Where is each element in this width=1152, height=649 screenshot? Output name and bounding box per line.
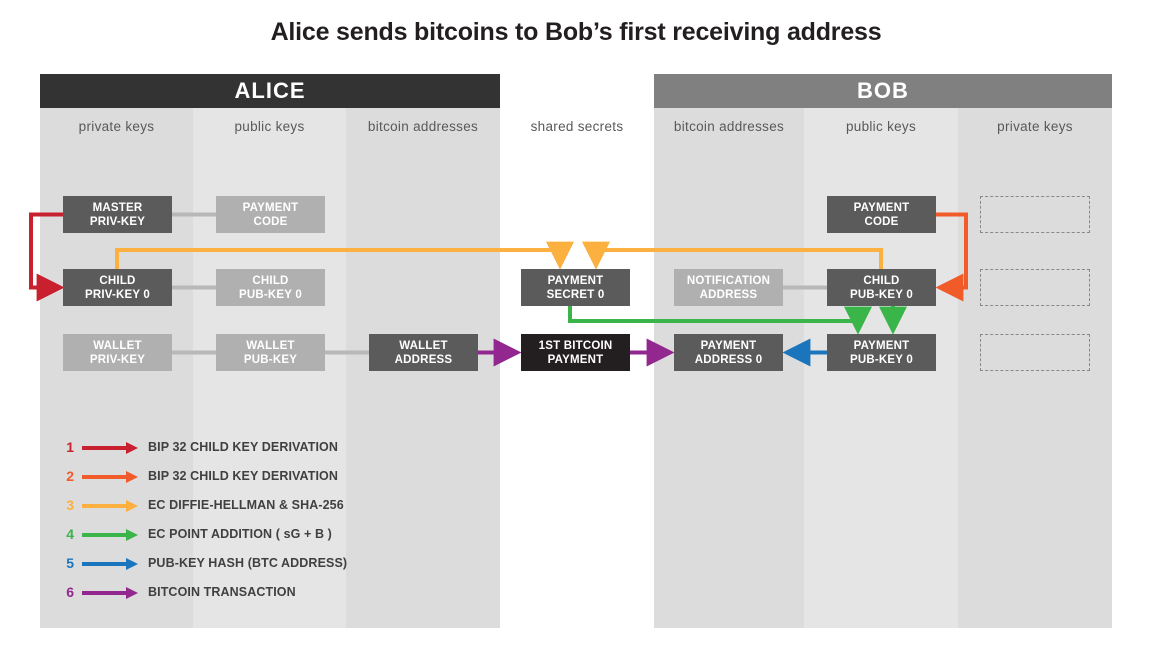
bob-payment-address-0: PAYMENTADDRESS 0	[674, 334, 783, 371]
box-label-line2: SECRET 0	[547, 288, 605, 302]
box-label-line2: PUB-KEY 0	[850, 353, 913, 367]
alice-child-priv-key: CHILDPRIV-KEY 0	[63, 269, 172, 306]
box-label-line2: PAYMENT	[548, 353, 604, 367]
box-label-line2: PRIV-KEY	[90, 353, 145, 367]
legend-row-2: 2BIP 32 CHILD KEY DERIVATION	[60, 466, 480, 495]
legend-number: 3	[60, 497, 74, 513]
box-label-line1: NOTIFICATION	[687, 274, 770, 288]
legend-label: PUB-KEY HASH (BTC ADDRESS)	[148, 556, 347, 570]
alice-wallet-pub-key: WALLETPUB-KEY	[216, 334, 325, 371]
box-label-line1: 1ST BITCOIN	[539, 339, 613, 353]
legend-label: BITCOIN TRANSACTION	[148, 585, 296, 599]
legend-label: EC DIFFIE-HELLMAN & SHA-256	[148, 498, 344, 512]
bob-notification-address: NOTIFICATIONADDRESS	[674, 269, 783, 306]
legend-row-1: 1BIP 32 CHILD KEY DERIVATION	[60, 437, 480, 466]
payment-secret-0: PAYMENTSECRET 0	[521, 269, 630, 306]
panel-header-bob: BOB	[654, 74, 1112, 108]
box-label-line1: WALLET	[399, 339, 447, 353]
box-label-line2: CODE	[864, 215, 898, 229]
column-label-alice-addr: bitcoin addresses	[346, 119, 500, 134]
box-label-line1: CHILD	[863, 274, 899, 288]
legend-number: 6	[60, 584, 74, 600]
legend-row-5: 5PUB-KEY HASH (BTC ADDRESS)	[60, 553, 480, 582]
column-label-alice-private: private keys	[40, 119, 193, 134]
legend-label: BIP 32 CHILD KEY DERIVATION	[148, 440, 338, 454]
legend-row-6: 6BITCOIN TRANSACTION	[60, 582, 480, 611]
column-label-bob-public: public keys	[804, 119, 958, 134]
legend-number: 2	[60, 468, 74, 484]
bob-payment-code: PAYMENTCODE	[827, 196, 936, 233]
legend-row-3: 3EC DIFFIE-HELLMAN & SHA-256	[60, 495, 480, 524]
legend-number: 1	[60, 439, 74, 455]
legend-arrow-icon	[82, 586, 140, 600]
column-label-bob-addr: bitcoin addresses	[654, 119, 804, 134]
legend-label: BIP 32 CHILD KEY DERIVATION	[148, 469, 338, 483]
box-label-line2: PUB-KEY 0	[239, 288, 302, 302]
bob-private-placeholder-3	[980, 334, 1090, 371]
alice-child-pub-key: CHILDPUB-KEY 0	[216, 269, 325, 306]
legend-row-4: 4EC POINT ADDITION ( sG + B )	[60, 524, 480, 553]
box-label-line2: PUB-KEY	[244, 353, 297, 367]
bob-private-placeholder-2	[980, 269, 1090, 306]
box-label-line2: PRIV-KEY 0	[85, 288, 150, 302]
alice-wallet-priv-key: WALLETPRIV-KEY	[63, 334, 172, 371]
box-label-line2: ADDRESS	[700, 288, 758, 302]
box-label-line2: ADDRESS 0	[695, 353, 763, 367]
box-label-line1: WALLET	[246, 339, 294, 353]
column-label-alice-public: public keys	[193, 119, 346, 134]
alice-payment-code: PAYMENTCODE	[216, 196, 325, 233]
column-label-bob-private: private keys	[958, 119, 1112, 134]
bob-child-pub-key: CHILDPUB-KEY 0	[827, 269, 936, 306]
box-label-line2: ADDRESS	[395, 353, 453, 367]
alice-master-priv-key: MASTERPRIV-KEY	[63, 196, 172, 233]
legend-arrow-icon	[82, 470, 140, 484]
legend-arrow-icon	[82, 441, 140, 455]
box-label-line1: MASTER	[93, 201, 143, 215]
legend-arrow-icon	[82, 499, 140, 513]
alice-wallet-address: WALLETADDRESS	[369, 334, 478, 371]
diagram-canvas: Alice sends bitcoins to Bob’s first rece…	[0, 0, 1152, 649]
box-label-line2: PRIV-KEY	[90, 215, 145, 229]
box-label-line1: PAYMENT	[854, 201, 910, 215]
box-label-line1: CHILD	[252, 274, 288, 288]
legend-number: 5	[60, 555, 74, 571]
box-label-line1: WALLET	[93, 339, 141, 353]
box-label-line1: PAYMENT	[854, 339, 910, 353]
page-title: Alice sends bitcoins to Bob’s first rece…	[0, 18, 1152, 47]
legend-number: 4	[60, 526, 74, 542]
box-label-line2: PUB-KEY 0	[850, 288, 913, 302]
box-label-line1: CHILD	[99, 274, 135, 288]
box-label-line1: PAYMENT	[548, 274, 604, 288]
box-label-line1: PAYMENT	[701, 339, 757, 353]
first-bitcoin-payment: 1ST BITCOINPAYMENT	[521, 334, 630, 371]
legend-label: EC POINT ADDITION ( sG + B )	[148, 527, 332, 541]
column-label-shared-secrets: shared secrets	[500, 119, 654, 134]
legend-arrow-icon	[82, 528, 140, 542]
legend: 1BIP 32 CHILD KEY DERIVATION2BIP 32 CHIL…	[60, 437, 480, 611]
legend-arrow-icon	[82, 557, 140, 571]
bob-payment-pub-key-0: PAYMENTPUB-KEY 0	[827, 334, 936, 371]
box-label-line2: CODE	[253, 215, 287, 229]
bob-private-placeholder-1	[980, 196, 1090, 233]
box-label-line1: PAYMENT	[243, 201, 299, 215]
panel-header-alice: ALICE	[40, 74, 500, 108]
